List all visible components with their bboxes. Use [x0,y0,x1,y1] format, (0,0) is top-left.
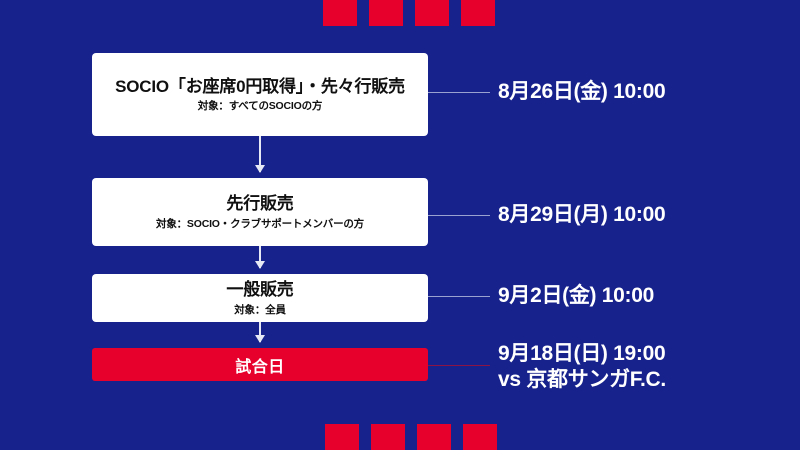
flow-step-box-2: 先行販売 対象：SOCIO・クラブサポートメンバーの方 [92,178,428,246]
flow-step-box-1: SOCIO「お座席0円取得」・先々行販売 対象：すべてのSOCIOの方 [92,53,428,136]
match-day-date: 9月18日(日) 19:00 vs 京都サンガF.C. [498,341,666,392]
top-decoration-row [0,0,800,26]
decorative-square [415,0,449,26]
flow-step-date-1: 8月26日(金) 10:00 [498,79,665,105]
connector-line-1 [428,92,490,93]
flow-step-title: 一般販売 [226,279,293,300]
decorative-square [461,0,495,26]
flow-arrow-2 [259,246,261,268]
connector-line-2 [428,215,490,216]
flow-arrow-3 [259,322,261,342]
decorative-square [463,424,497,450]
match-day-opponent: vs 京都サンガF.C. [498,367,666,393]
flow-step-date-2: 8月29日(月) 10:00 [498,202,665,228]
flow-step-title: 先行販売 [226,193,293,214]
connector-line-3 [428,296,490,297]
flow-arrow-1 [259,136,261,172]
flow-step-subtitle: 対象：全員 [234,304,286,317]
connector-line-match-day [428,365,490,366]
flow-step-subtitle: 対象：SOCIO・クラブサポートメンバーの方 [156,218,364,231]
decorative-square [371,424,405,450]
sales-schedule-graphic: SOCIO「お座席0円取得」・先々行販売 対象：すべてのSOCIOの方 8月26… [0,0,800,450]
decorative-square [417,424,451,450]
bottom-decoration-row [0,424,800,450]
flow-step-date-3: 9月2日(金) 10:00 [498,283,654,309]
flow-step-box-3: 一般販売 対象：全員 [92,274,428,322]
decorative-square [369,0,403,26]
flow-step-title: SOCIO「お座席0円取得」・先々行販売 [115,76,405,97]
match-day-label: 試合日 [235,353,285,377]
decorative-square [325,424,359,450]
decorative-square [323,0,357,26]
flow-step-subtitle: 対象：すべてのSOCIOの方 [198,100,322,113]
match-day-bar: 試合日 [92,348,428,381]
match-day-datetime: 9月18日(日) 19:00 [498,342,665,365]
